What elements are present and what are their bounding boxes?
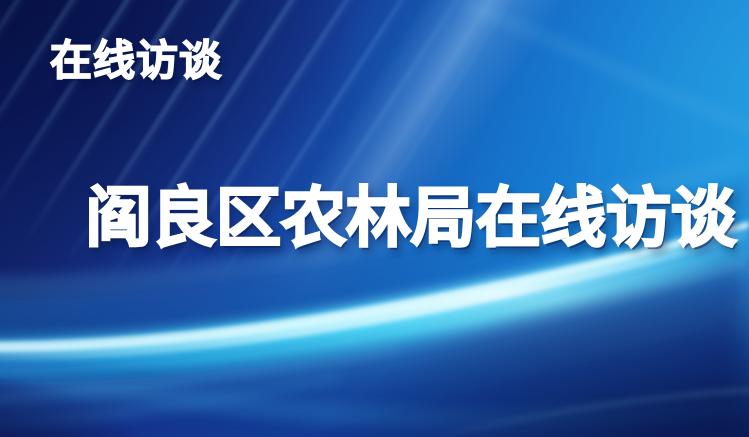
top-right-thin-arc xyxy=(458,0,749,136)
banner-main-title: 阎良区农林局在线访谈 xyxy=(86,186,736,251)
online-interview-banner: 在线访谈 阎良区农林局在线访谈 xyxy=(0,0,749,437)
banner-small-label: 在线访谈 xyxy=(50,40,222,82)
